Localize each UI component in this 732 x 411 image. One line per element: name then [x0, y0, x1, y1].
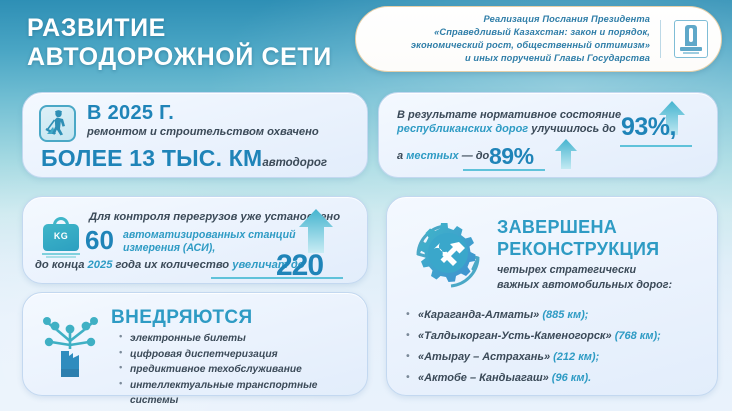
- normative-value-local: 89%: [489, 143, 534, 170]
- president-address-badge: Реализация Послания Президента «Справедл…: [355, 6, 722, 72]
- card-normative-state: В результате нормативное состояние респу…: [378, 92, 718, 178]
- list-item: интеллектуальные транспортные системы: [119, 378, 367, 409]
- kg-weight-icon: KG: [41, 215, 81, 257]
- list-item: «Атырау – Астрахань» (212 км);: [405, 347, 661, 368]
- card-reconstruction: ЗАВЕРШЕНА РЕКОНСТРУКЦИЯ четырех стратеги…: [386, 196, 718, 396]
- overload-line-3-year: 2025: [88, 259, 113, 271]
- road-name: «Актобе – Кандыагаш»: [418, 372, 549, 384]
- card-year-heading: В 2025 Г.: [87, 103, 319, 124]
- gear-tools-refresh-icon: [405, 213, 491, 299]
- road-name: «Караганда-Алматы»: [418, 309, 539, 321]
- road-name: «Атырау – Астрахань»: [418, 351, 550, 363]
- normative-local-underline: [463, 169, 545, 171]
- badge-line-3: экономический рост, общественный оптимиз…: [356, 39, 650, 52]
- badge-text-block: Реализация Послания Президента «Справедл…: [356, 13, 660, 66]
- card-year-top-row: В 2025 Г. ремонтом и строительством охва…: [39, 103, 319, 142]
- overload-line-3-plain-a: до конца: [35, 259, 88, 271]
- overload-line-3-plain-b: года их количество: [112, 259, 232, 271]
- reconstruction-heading-line2: РЕКОНСТРУКЦИЯ: [497, 239, 659, 261]
- list-item: «Караганда-Алматы» (885 км);: [405, 305, 661, 326]
- implemented-heading: ВНЕДРЯЮТСЯ: [111, 307, 253, 329]
- list-item: «Актобе – Кандыагаш» (96 км).: [405, 368, 661, 389]
- card-overload-control: KG Для контроля перегрузов уже установле…: [22, 196, 368, 284]
- reconstruction-subtitle: четырех стратегически важных автомобильн…: [497, 263, 672, 292]
- card-year-subtitle: ремонтом и строительством охвачено: [87, 126, 319, 138]
- card-year-big-unit: автодорог: [262, 157, 327, 169]
- reconstruction-roads-list: «Караганда-Алматы» (885 км); «Талдыкорга…: [405, 305, 661, 389]
- badge-line-1: Реализация Послания Президента: [356, 13, 650, 26]
- badge-line-2: «Справедливый Казахстан: закон и порядок…: [356, 26, 650, 39]
- card-year-2025: В 2025 Г. ремонтом и строительством охва…: [22, 92, 368, 178]
- normative-line-3: а местных — до: [397, 150, 489, 162]
- government-emblem-icon: [661, 20, 721, 58]
- implemented-list: электронные билеты цифровая диспетчериза…: [119, 331, 367, 409]
- normative-highlight-republican: республиканских дорог: [397, 123, 528, 135]
- overload-line-2: автоматизированных станций измерения (АС…: [123, 229, 296, 256]
- kg-icon-label: KG: [41, 231, 81, 241]
- normative-line-1: В результате нормативное состояние: [397, 109, 621, 121]
- badge-line-4: и иных поручений Главы Государства: [356, 52, 650, 65]
- road-length: (212 км);: [553, 351, 599, 363]
- reconstruction-subtitle-line1: четырех стратегически: [497, 263, 672, 278]
- card-implemented-tech: ВНЕДРЯЮТСЯ электронные билеты цифровая д…: [22, 292, 368, 396]
- normative-highlight-local: местных: [406, 150, 458, 162]
- list-item: электронные билеты: [119, 331, 367, 347]
- smart-factory-iot-icon: [39, 309, 101, 379]
- normative-line-2-plain: улучшилось до: [528, 123, 616, 135]
- road-name: «Талдыкорган-Усть-Каменогорск»: [418, 330, 612, 342]
- card-year-big-value-row: БОЛЕЕ 13 ТЫС. КМавтодорог: [41, 145, 327, 172]
- card-year-big-value: БОЛЕЕ 13 ТЫС. КМ: [41, 145, 262, 171]
- reconstruction-subtitle-line2: важных автомобильных дорог:: [497, 278, 672, 293]
- page-title-line2: АВТОДОРОЖНОЙ СЕТИ: [27, 43, 332, 72]
- list-item: цифровая диспетчеризация: [119, 347, 367, 363]
- overload-line-2b: измерения (АСИ),: [123, 242, 296, 255]
- page-title: РАЗВИТИЕ АВТОДОРОЖНОЙ СЕТИ: [27, 14, 332, 72]
- overload-target-underline: [211, 277, 343, 279]
- normative-value-republican: 93%,: [621, 113, 676, 142]
- overload-line-2a: автоматизированных станций: [123, 229, 296, 242]
- card-year-text: В 2025 Г. ремонтом и строительством охва…: [87, 103, 319, 138]
- road-length: (768 км);: [615, 330, 661, 342]
- arrow-up-icon-local: [555, 139, 577, 169]
- arrow-up-icon-overload: [299, 209, 333, 253]
- overload-value-installed: 60: [85, 225, 114, 256]
- reconstruction-heading: ЗАВЕРШЕНА РЕКОНСТРУКЦИЯ: [497, 217, 659, 260]
- normative-line-3-plain-b: — до: [459, 150, 490, 162]
- normative-line-3-plain-a: а: [397, 150, 406, 162]
- road-length: (96 км).: [552, 372, 591, 384]
- road-worker-icon: [39, 105, 76, 142]
- list-item: предиктивное техобслуживание: [119, 362, 367, 378]
- overload-line-3: до конца 2025 года их количество увелича…: [35, 259, 305, 271]
- normative-republican-underline: [620, 145, 692, 147]
- reconstruction-heading-line1: ЗАВЕРШЕНА: [497, 217, 659, 239]
- normative-line-2: республиканских дорог улучшилось до: [397, 123, 616, 135]
- page-title-line1: РАЗВИТИЕ: [27, 14, 166, 42]
- road-length: (885 км);: [542, 309, 588, 321]
- list-item: «Талдыкорган-Усть-Каменогорск» (768 км);: [405, 326, 661, 347]
